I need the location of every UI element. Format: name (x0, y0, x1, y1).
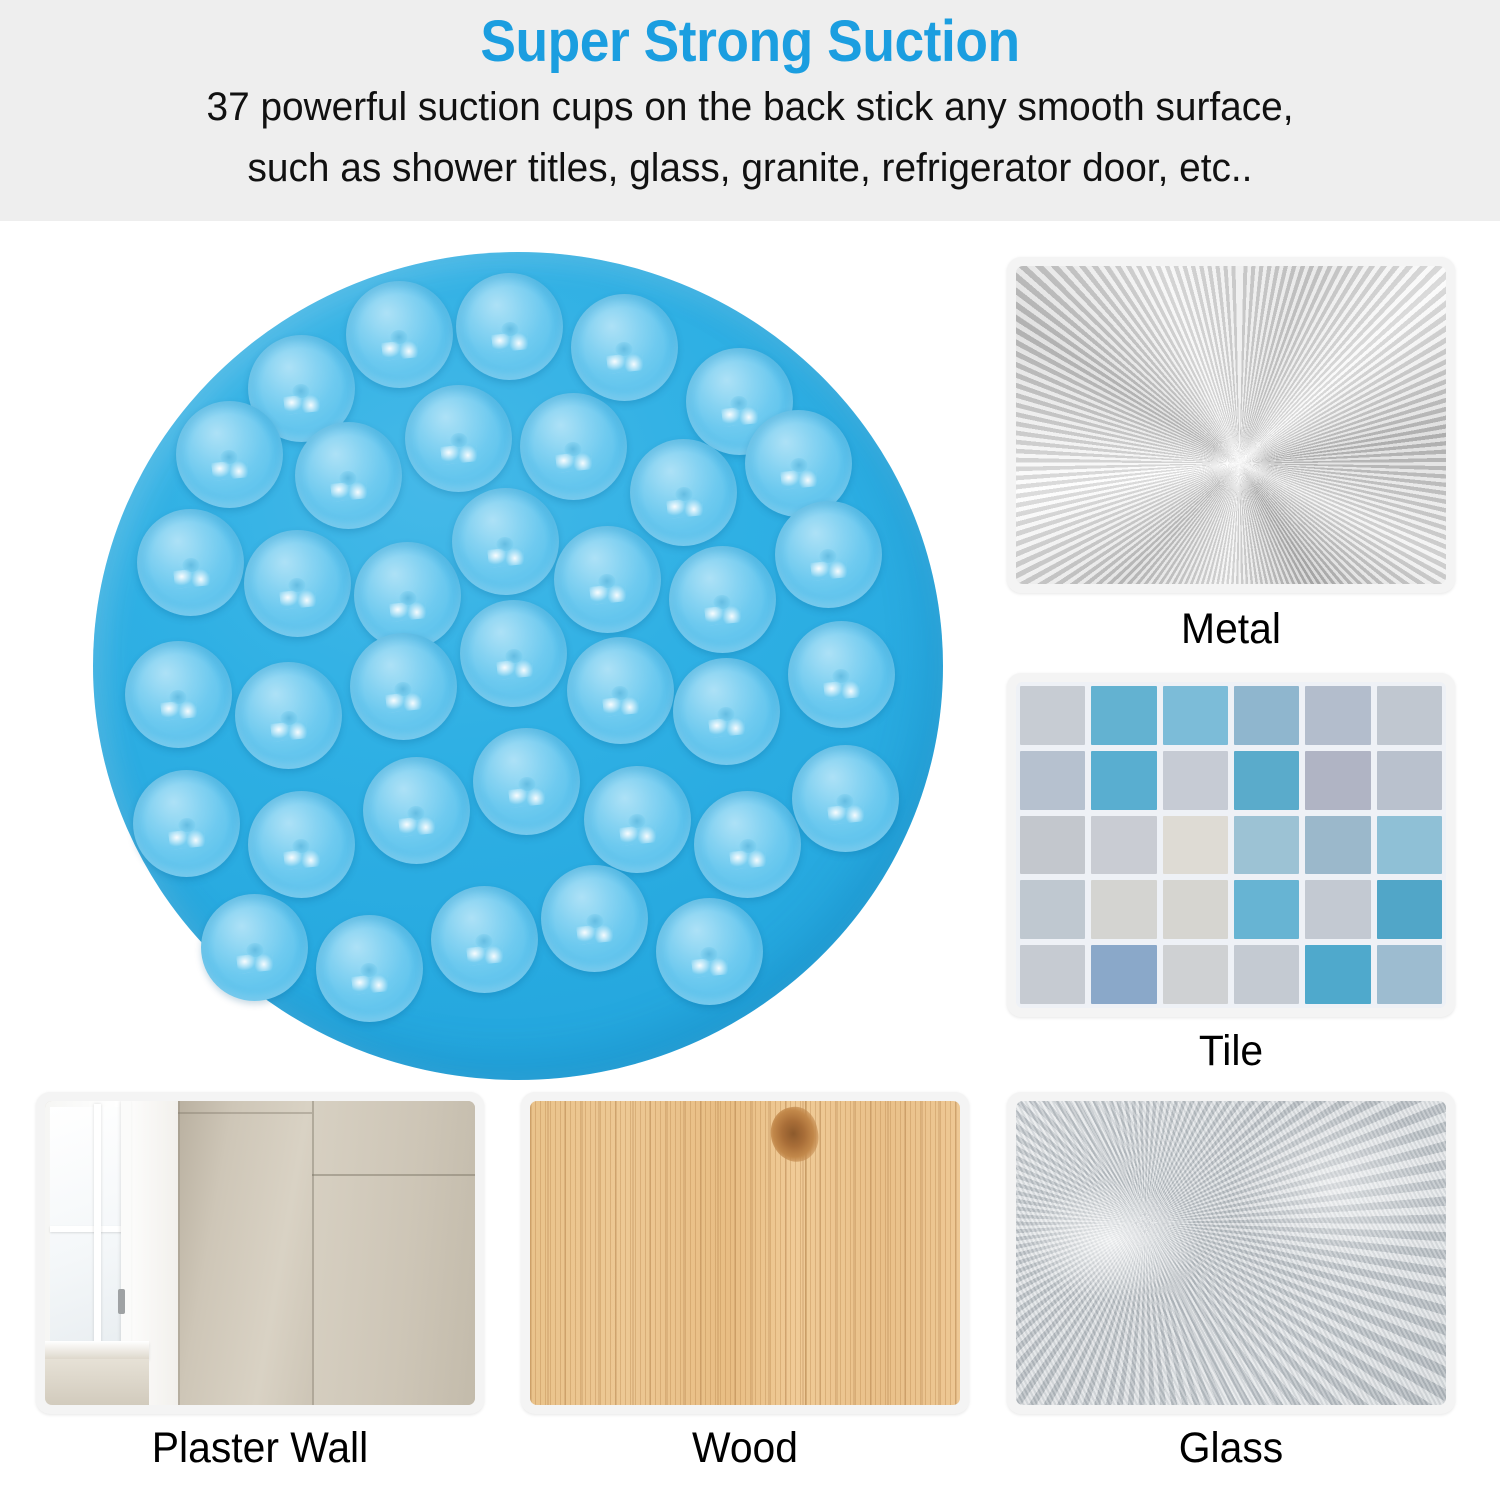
surface-label-tile: Tile (1018, 1027, 1444, 1076)
tile-cell (1163, 751, 1228, 810)
wall-seam-horizontal-upper (178, 1112, 311, 1114)
tile-cell (1163, 880, 1228, 939)
suction-cup (235, 662, 342, 769)
suction-cup (350, 633, 457, 740)
glass-texture (1016, 1101, 1446, 1405)
suction-cup (295, 422, 402, 529)
tile-cell (1091, 816, 1156, 875)
tile-grid (1016, 682, 1446, 1008)
suction-cup (792, 745, 899, 852)
surface-panel-tile (1007, 673, 1455, 1017)
suction-cup (788, 621, 895, 728)
tile-cell (1091, 945, 1156, 1004)
header-band: Super Strong Suction 37 powerful suction… (0, 0, 1500, 221)
wall-panel-left (178, 1101, 311, 1405)
tile-cell (1377, 751, 1442, 810)
surface-label-metal: Metal (1018, 605, 1444, 654)
tile-cell (1020, 945, 1085, 1004)
tile-cell (1234, 751, 1299, 810)
suction-cup (456, 273, 563, 380)
suction-cup (248, 791, 355, 898)
wall-seam-vertical-left (178, 1101, 180, 1405)
suction-cup (541, 865, 648, 972)
wall-seam-vertical (312, 1101, 314, 1405)
window-mullion-vertical (94, 1104, 101, 1347)
plaster-wall-texture (45, 1101, 475, 1405)
suction-cup (554, 526, 661, 633)
window-sill (45, 1341, 149, 1359)
suction-cup (673, 658, 780, 765)
tile-cell (1163, 816, 1228, 875)
suction-cup-disc (93, 252, 943, 1080)
tile-cell (1163, 945, 1228, 1004)
suction-cup (316, 915, 423, 1022)
window-hinge (118, 1289, 125, 1313)
tile-texture (1016, 682, 1446, 1008)
tile-cell (1305, 686, 1370, 745)
surface-panel-plaster-wall (36, 1092, 484, 1414)
surface-label-glass: Glass (1018, 1424, 1444, 1473)
suction-cup (584, 766, 691, 873)
tile-cell (1234, 880, 1299, 939)
suction-cup (363, 757, 470, 864)
tile-cell (1377, 945, 1442, 1004)
suction-cup (201, 894, 308, 1001)
suction-cup (431, 886, 538, 993)
tile-cell (1377, 816, 1442, 875)
suction-cup (567, 637, 674, 744)
tile-cell (1234, 945, 1299, 1004)
disc-body (93, 252, 943, 1080)
wall-seam-horizontal (312, 1174, 475, 1176)
tile-cell (1305, 880, 1370, 939)
tile-cell (1377, 686, 1442, 745)
window-frame-edge (121, 1101, 131, 1353)
subtitle-line-2: such as shower titles, glass, granite, r… (23, 134, 1478, 196)
tile-cell (1020, 880, 1085, 939)
suction-cup (405, 385, 512, 492)
suction-cup (176, 401, 283, 508)
wood-knot (766, 1103, 824, 1166)
tile-cell (1163, 686, 1228, 745)
subtitle-line-1: 37 powerful suction cups on the back sti… (23, 73, 1478, 135)
tile-cell (1305, 945, 1370, 1004)
metal-texture (1016, 266, 1446, 584)
surface-label-wood: Wood (532, 1424, 958, 1473)
tile-cell (1020, 751, 1085, 810)
suction-cup (630, 439, 737, 546)
suction-cup (346, 281, 453, 388)
suction-cup (133, 770, 240, 877)
surface-panel-glass (1007, 1092, 1455, 1414)
surface-label-plaster-wall: Plaster Wall (47, 1424, 473, 1473)
surface-panel-metal (1007, 257, 1455, 593)
suction-cup (473, 728, 580, 835)
suction-cup (520, 393, 627, 500)
product-feature-image: Super Strong Suction 37 powerful suction… (0, 0, 1500, 1500)
window-mullion-horizontal (50, 1226, 123, 1232)
tile-cell (1091, 686, 1156, 745)
suction-cup (452, 488, 559, 595)
suction-cup (775, 501, 882, 608)
suction-cup (694, 791, 801, 898)
tile-cell (1020, 686, 1085, 745)
tile-cell (1020, 816, 1085, 875)
surface-panel-wood (521, 1092, 969, 1414)
tile-cell (1305, 751, 1370, 810)
tile-cell (1377, 880, 1442, 939)
suction-cup (571, 294, 678, 401)
suction-cup (460, 600, 567, 707)
window (45, 1101, 178, 1405)
tile-cell (1305, 816, 1370, 875)
tile-cell (1091, 751, 1156, 810)
tile-cell (1234, 686, 1299, 745)
tile-cell (1091, 880, 1156, 939)
wall-below-window (45, 1359, 149, 1405)
suction-cup (669, 546, 776, 653)
wall-panel-right (312, 1101, 475, 1405)
page-title: Super Strong Suction (60, 0, 1440, 73)
suction-cup (137, 509, 244, 616)
suction-cup (125, 641, 232, 748)
suction-cup (656, 898, 763, 1005)
suction-cup (244, 530, 351, 637)
tile-cell (1234, 816, 1299, 875)
wood-texture (530, 1101, 960, 1405)
